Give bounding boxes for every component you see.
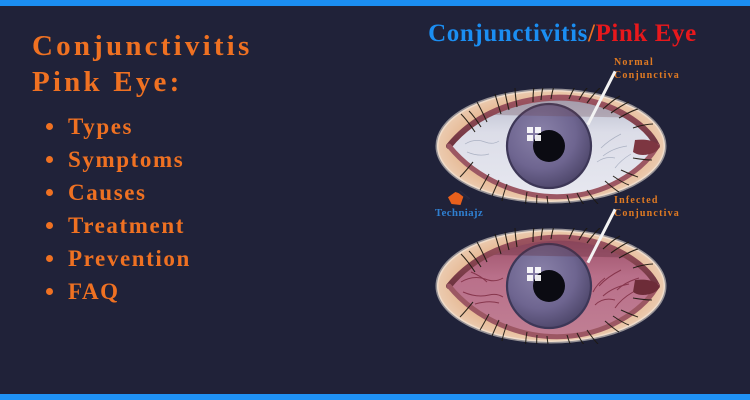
rocket-icon bbox=[446, 190, 472, 206]
diagram-title-separator: / bbox=[588, 20, 596, 47]
normal-conjunctiva-label: Normal Conjunctiva bbox=[614, 56, 680, 82]
infected-conjunctiva-label: Infected Conjunctiva bbox=[614, 194, 680, 220]
page-title-line-2: Pink Eye: bbox=[32, 64, 362, 100]
list-item-symptoms[interactable]: Symptoms bbox=[40, 143, 370, 176]
list-item-label: Prevention bbox=[68, 246, 191, 271]
diagram-title: Conjunctivitis/Pink Eye bbox=[375, 20, 750, 48]
bottom-accent-bar bbox=[0, 394, 750, 400]
list-item-causes[interactable]: Causes bbox=[40, 176, 370, 209]
list-item-label: FAQ bbox=[68, 279, 120, 304]
list-item-prevention[interactable]: Prevention bbox=[40, 242, 370, 275]
list-item-label: Causes bbox=[68, 180, 147, 205]
page-title-line-1: Conjunctivitis bbox=[32, 30, 252, 62]
list-item-types[interactable]: Types bbox=[40, 110, 370, 143]
brand-name: Techniajz bbox=[420, 207, 498, 219]
infected-label-line-1: Infected bbox=[614, 195, 659, 206]
diagram-title-part-2: Pink Eye bbox=[596, 20, 697, 47]
topic-list: Types Symptoms Causes Treatment Preventi… bbox=[40, 110, 370, 308]
poster-stage: Conjunctivitis Pink Eye: Types Symptoms … bbox=[0, 6, 750, 394]
normal-eye-illustration bbox=[435, 88, 667, 204]
infected-eye-illustration bbox=[435, 228, 667, 344]
normal-label-line-1: Normal bbox=[614, 57, 654, 68]
list-item-label: Symptoms bbox=[68, 147, 184, 172]
normal-label-line-2: Conjunctiva bbox=[614, 70, 680, 81]
right-panel: Conjunctivitis/Pink Eye bbox=[375, 6, 750, 394]
infected-label-line-2: Conjunctiva bbox=[614, 208, 680, 219]
brand-watermark[interactable]: Techniajz bbox=[420, 190, 498, 232]
list-item-label: Types bbox=[68, 114, 133, 139]
list-item-label: Treatment bbox=[68, 213, 185, 238]
list-item-faq[interactable]: FAQ bbox=[40, 275, 370, 308]
page-title: Conjunctivitis Pink Eye: bbox=[32, 28, 362, 100]
diagram-title-part-1: Conjunctivitis bbox=[428, 20, 588, 47]
list-item-treatment[interactable]: Treatment bbox=[40, 209, 370, 242]
left-panel: Conjunctivitis Pink Eye: Types Symptoms … bbox=[0, 6, 375, 394]
